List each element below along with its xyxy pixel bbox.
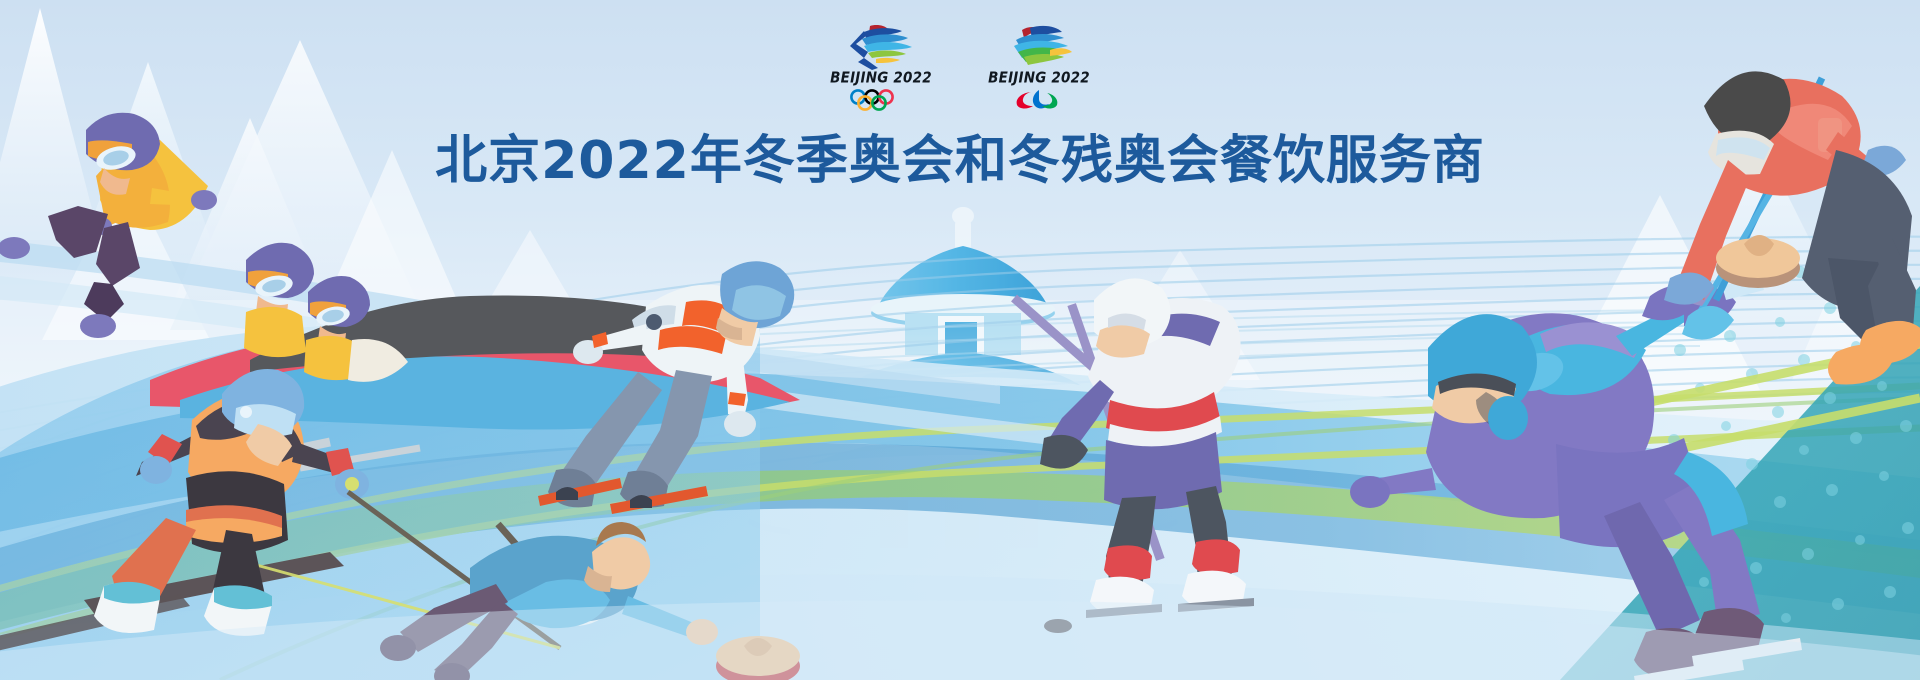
olympic-rings-icon [846,89,916,111]
athlete-ice-hockey-player [1014,278,1254,633]
beijing-2022-olympic-winter-games-logo: BEIJING 2022 [828,22,934,111]
page-title: 北京2022年冬季奥会和冬残奥会餐饮服务商 [0,118,1920,193]
winter-dream-emblem-icon [842,22,920,70]
beijing-2022-paralympic-winter-games-logo: BEIJING 2022 [986,22,1092,111]
games-logos: BEIJING 2022 [0,22,1920,111]
paralympic-agitos-icon [1009,89,1069,111]
paralympic-wordmark: BEIJING 2022 [988,71,1090,86]
olympic-wordmark: BEIJING 2022 [830,71,932,86]
olympic-banner: BEIJING 2022 [0,0,1920,680]
flight-emblem-icon [1000,22,1078,70]
